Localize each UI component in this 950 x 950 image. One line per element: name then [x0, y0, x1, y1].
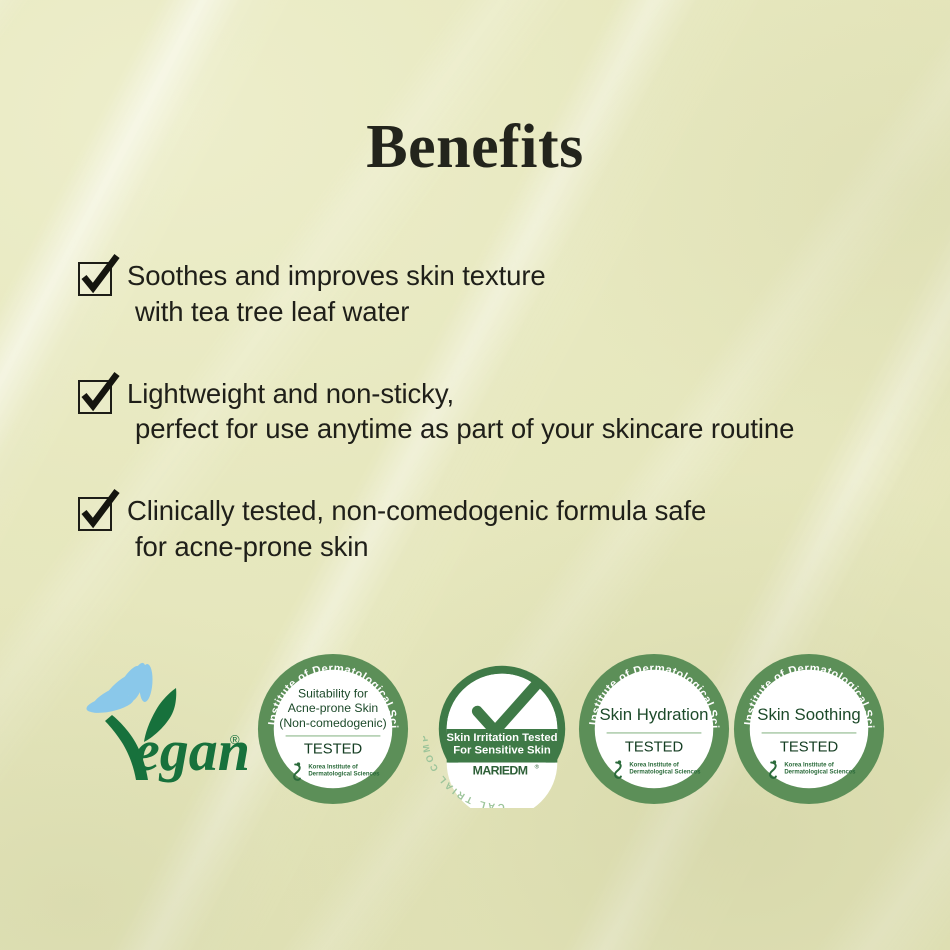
benefit-item: Soothes and improves skin texture with t… — [78, 258, 908, 330]
seal-brand: MARIEDM — [473, 763, 528, 777]
seal-footer-line: Dermatological Sciences — [784, 769, 856, 775]
benefit-item: Clinically tested, non-comedogenic formu… — [78, 493, 908, 565]
benefit-line-2: for acne-prone skin — [127, 529, 706, 565]
seal-title-line: For Sensitive Skin — [453, 745, 551, 757]
benefit-line-1: Clinically tested, non-comedogenic formu… — [127, 495, 706, 526]
seal-footer-line: Korea Institute of — [308, 765, 358, 771]
vegan-logo: egan ® — [72, 658, 247, 798]
checkbox-checked-icon — [78, 380, 112, 414]
benefit-text: Clinically tested, non-comedogenic formu… — [127, 493, 706, 565]
benefit-text: Soothes and improves skin texture with t… — [127, 258, 546, 330]
benefit-line-1: Soothes and improves skin texture — [127, 260, 546, 291]
seal-result: TESTED — [625, 740, 683, 756]
seal-result: TESTED — [304, 742, 362, 758]
vegan-registered-mark: ® — [230, 732, 240, 747]
seal-title-line: Skin Irritation Tested — [446, 732, 557, 744]
benefit-line-2: perfect for use anytime as part of your … — [127, 411, 794, 447]
seal-skin-soothing: Korea Institute of Dermatological Scienc… — [730, 650, 888, 808]
benefit-line-1: Lightweight and non-sticky, — [127, 378, 454, 409]
seal-acne-prone: Korea Institute of Dermatological Scienc… — [254, 650, 412, 808]
vegan-wordmark: egan — [134, 718, 247, 783]
checkbox-checked-icon — [78, 262, 112, 296]
benefit-line-2: with tea tree leaf water — [127, 294, 546, 330]
benefit-item: Lightweight and non-sticky, perfect for … — [78, 376, 908, 448]
seal-skin-irritation: Skin Irritation Tested For Sensitive Ski… — [423, 650, 581, 808]
seal-title-line: (Non-comedogenic) — [279, 716, 386, 730]
seal-footer-line: Dermatological Sciences — [308, 771, 380, 777]
benefit-text: Lightweight and non-sticky, perfect for … — [127, 376, 794, 448]
seal-footer-line: Korea Institute of — [629, 763, 679, 769]
seal-brand-mark: ® — [535, 764, 540, 771]
page-title: Benefits — [0, 112, 950, 183]
seal-skin-hydration: Korea Institute of Dermatological Scienc… — [575, 650, 733, 808]
checkbox-checked-icon — [78, 497, 112, 531]
seal-footer-line: Dermatological Sciences — [629, 769, 701, 775]
certification-badges-row: egan ® Korea Institute of Dermatological… — [0, 650, 950, 820]
seal-title-line: Skin Hydration — [599, 705, 708, 724]
seal-footer-line: Korea Institute of — [784, 763, 834, 769]
benefits-list: Soothes and improves skin texture with t… — [78, 258, 908, 565]
seal-title-line: Skin Soothing — [757, 705, 860, 724]
seal-title-line: Acne-prone Skin — [288, 701, 379, 715]
seal-title-line: Suitability for — [298, 686, 368, 700]
benefits-infographic: Benefits Soothes and improves skin textu… — [0, 0, 950, 950]
seal-result: TESTED — [780, 740, 838, 756]
